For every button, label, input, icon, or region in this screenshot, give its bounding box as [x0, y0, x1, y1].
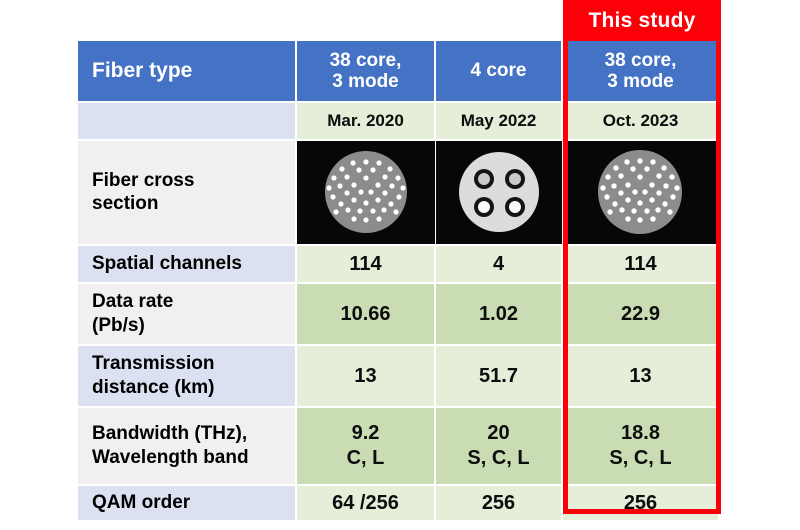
- row-label-cell-qam-order: QAM order: [78, 486, 297, 522]
- header-cell-col-3: 38 core, 3 mode: [563, 41, 718, 103]
- row-label-transmission-distance-line1: Transmission: [92, 352, 281, 376]
- cell-bandwidth-2: 20 S, C, L: [436, 408, 563, 486]
- cell-qam-order-3: 256: [563, 486, 718, 522]
- header-cell-col-2: 4 core: [436, 41, 563, 103]
- row-label-bandwidth-line1: Bandwidth (THz),: [92, 422, 281, 446]
- table-row-qam-order: QAM order 64 /256 256 256: [78, 486, 718, 522]
- table-row-date: Mar. 2020 May 2022 Oct. 2023: [78, 103, 718, 141]
- header-label-fiber-type: Fiber type: [78, 59, 295, 83]
- fiber-image-cell-2: [436, 141, 563, 246]
- fiber-comparison-table: Fiber type 38 core, 3 mode 4 core 38 cor…: [78, 41, 718, 522]
- cell-data-rate-1: 10.66: [297, 284, 436, 346]
- row-label-cell-data-rate: Data rate (Pb/s): [78, 284, 297, 346]
- row-label-cell-bandwidth: Bandwidth (THz), Wavelength band: [78, 408, 297, 486]
- date-row-label-cell: [78, 103, 297, 141]
- header-col-2-line1: 4 core: [450, 60, 547, 81]
- row-label-cell-spatial-channels: Spatial channels: [78, 246, 297, 284]
- table-row-bandwidth: Bandwidth (THz), Wavelength band 9.2 C, …: [78, 408, 718, 486]
- row-label-qam-order-line1: QAM order: [92, 491, 281, 515]
- fiber-4core-icon: [436, 141, 561, 244]
- row-label-spatial-channels: Spatial channels: [78, 252, 295, 276]
- header-cell-col-1: 38 core, 3 mode: [297, 41, 436, 103]
- header-col-3-line1: 38 core,: [577, 50, 704, 71]
- cell-qam-order-2: 256: [436, 486, 563, 522]
- date-cell-2: May 2022: [436, 103, 563, 141]
- row-label-spatial-channels-line1: Spatial channels: [92, 252, 281, 276]
- cell-bandwidth-3: 18.8 S, C, L: [563, 408, 718, 486]
- fiber-cross-section-label-line2: section: [92, 193, 281, 216]
- fiber-cross-section-label-cell: Fiber cross section: [78, 141, 297, 246]
- cell-bandwidth-1: 9.2 C, L: [297, 408, 436, 486]
- header-col-3: 38 core, 3 mode: [563, 50, 718, 93]
- cell-data-rate-3: 22.9: [563, 284, 718, 346]
- fiber-38core-3mode-icon: [563, 141, 718, 244]
- row-label-cell-transmission-distance: Transmission distance (km): [78, 346, 297, 408]
- header-cell-fiber-type: Fiber type: [78, 41, 297, 103]
- fiber-38core-3mode-icon: [297, 141, 434, 244]
- this-study-banner: This study: [563, 0, 721, 41]
- fiber-image-cell-3: [563, 141, 718, 246]
- row-label-data-rate-line1: Data rate: [92, 290, 281, 314]
- fiber-38core-svg-2: [567, 141, 714, 244]
- table-header-row: Fiber type 38 core, 3 mode 4 core 38 cor…: [78, 41, 718, 103]
- cell-data-rate-2: 1.02: [436, 284, 563, 346]
- comparison-table-figure: This study Fiber type 38 core, 3 mode: [0, 0, 800, 530]
- cell-spatial-channels-2: 4: [436, 246, 563, 284]
- cell-bandwidth-1-line1: 9.2: [297, 421, 434, 446]
- table-row-data-rate: Data rate (Pb/s) 10.66 1.02 22.9: [78, 284, 718, 346]
- cell-bandwidth-3-line2: S, C, L: [563, 446, 718, 471]
- cell-bandwidth-3-line1: 18.8: [563, 421, 718, 446]
- table-row-spatial-channels: Spatial channels 114 4 114: [78, 246, 718, 284]
- cell-bandwidth-2-line1: 20: [436, 421, 561, 446]
- cell-bandwidth-1-line2: C, L: [297, 446, 434, 471]
- header-col-1-line2: 3 mode: [311, 71, 420, 92]
- header-col-3-line2: 3 mode: [577, 71, 704, 92]
- row-label-bandwidth: Bandwidth (THz), Wavelength band: [78, 422, 295, 470]
- row-label-bandwidth-line2: Wavelength band: [92, 446, 281, 470]
- row-label-transmission-distance-line2: distance (km): [92, 376, 281, 400]
- row-label-data-rate-line2: (Pb/s): [92, 314, 281, 338]
- fiber-cross-section-label-line1: Fiber cross: [92, 170, 281, 193]
- header-col-1: 38 core, 3 mode: [297, 50, 434, 93]
- cell-transmission-distance-1: 13: [297, 346, 436, 408]
- header-col-2: 4 core: [436, 60, 561, 81]
- cell-transmission-distance-3: 13: [563, 346, 718, 408]
- table-row-transmission-distance: Transmission distance (km) 13 51.7 13: [78, 346, 718, 408]
- date-cell-1: Mar. 2020: [297, 103, 436, 141]
- row-label-data-rate: Data rate (Pb/s): [78, 290, 295, 338]
- cell-spatial-channels-1: 114: [297, 246, 436, 284]
- date-cell-3: Oct. 2023: [563, 103, 718, 141]
- table-row-fiber-cross-section: Fiber cross section: [78, 141, 718, 246]
- cell-qam-order-1: 64 /256: [297, 486, 436, 522]
- header-col-1-line1: 38 core,: [311, 50, 420, 71]
- fiber-38core-svg: [297, 141, 435, 244]
- fiber-cross-section-label: Fiber cross section: [78, 170, 295, 216]
- fiber-image-cell-1: [297, 141, 436, 246]
- cell-bandwidth-2-line2: S, C, L: [436, 446, 561, 471]
- row-label-transmission-distance: Transmission distance (km): [78, 352, 295, 400]
- fiber-4core-svg: [436, 141, 562, 244]
- cell-spatial-channels-3: 114: [563, 246, 718, 284]
- cell-transmission-distance-2: 51.7: [436, 346, 563, 408]
- row-label-qam-order: QAM order: [78, 491, 295, 515]
